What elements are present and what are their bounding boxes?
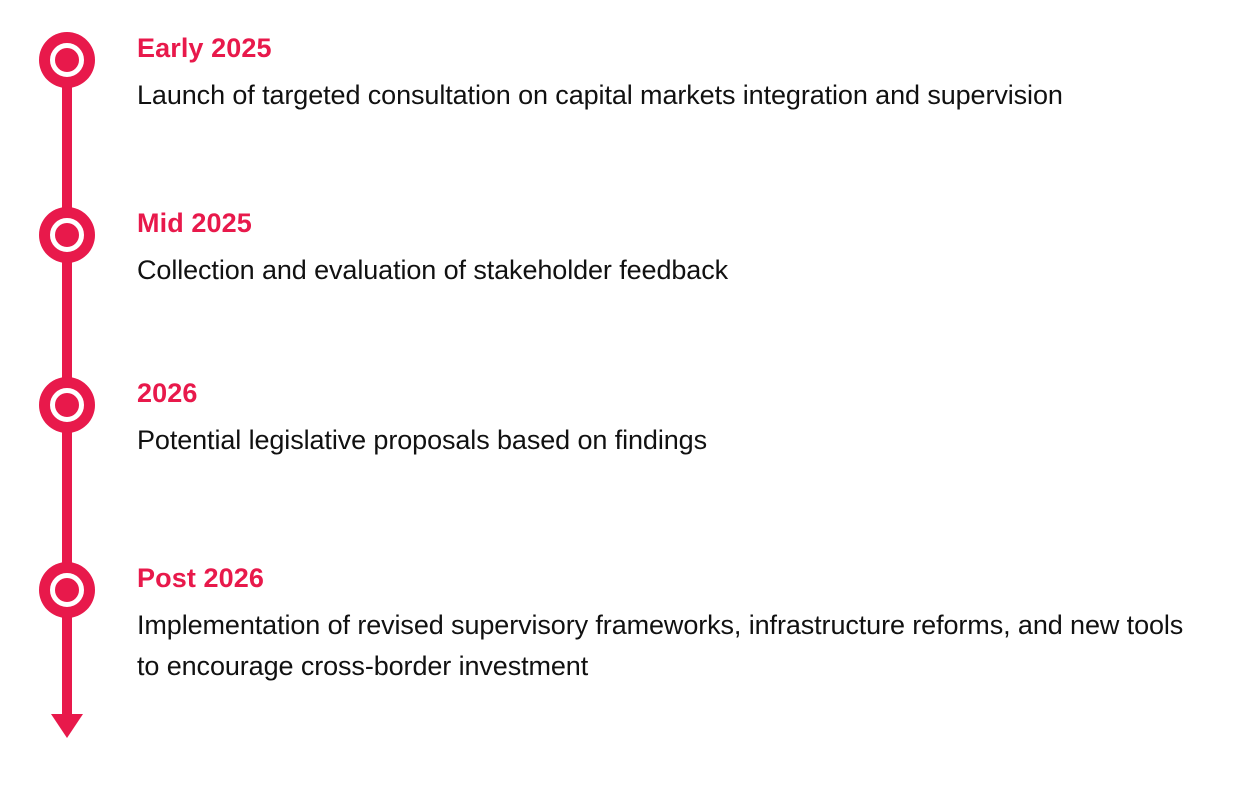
timeline-event-description: Launch of targeted consultation on capit… (137, 75, 1207, 116)
timeline-event-description: Collection and evaluation of stakeholder… (137, 250, 1207, 291)
timeline-event-title: Early 2025 (137, 32, 1207, 64)
timeline-event-title: 2026 (137, 377, 1207, 409)
timeline-event-description: Potential legislative proposals based on… (137, 420, 1207, 461)
timeline-event-3: 2026 Potential legislative proposals bas… (137, 377, 1207, 461)
timeline-node-ring (50, 573, 84, 607)
timeline-event-title: Post 2026 (137, 562, 1212, 594)
timeline-node-marker-4 (39, 562, 95, 618)
timeline-event-description: Implementation of revised supervisory fr… (137, 605, 1212, 687)
timeline-event-2: Mid 2025 Collection and evaluation of st… (137, 207, 1207, 291)
timeline-node-marker-3 (39, 377, 95, 433)
timeline-node-marker-1 (39, 32, 95, 88)
timeline-event-4: Post 2026 Implementation of revised supe… (137, 562, 1212, 687)
timeline-event-title: Mid 2025 (137, 207, 1207, 239)
timeline-diagram: Early 2025 Launch of targeted consultati… (0, 0, 1238, 785)
timeline-node-marker-2 (39, 207, 95, 263)
timeline-node-ring (50, 218, 84, 252)
timeline-event-1: Early 2025 Launch of targeted consultati… (137, 32, 1207, 116)
timeline-node-ring (50, 388, 84, 422)
timeline-node-ring (50, 43, 84, 77)
